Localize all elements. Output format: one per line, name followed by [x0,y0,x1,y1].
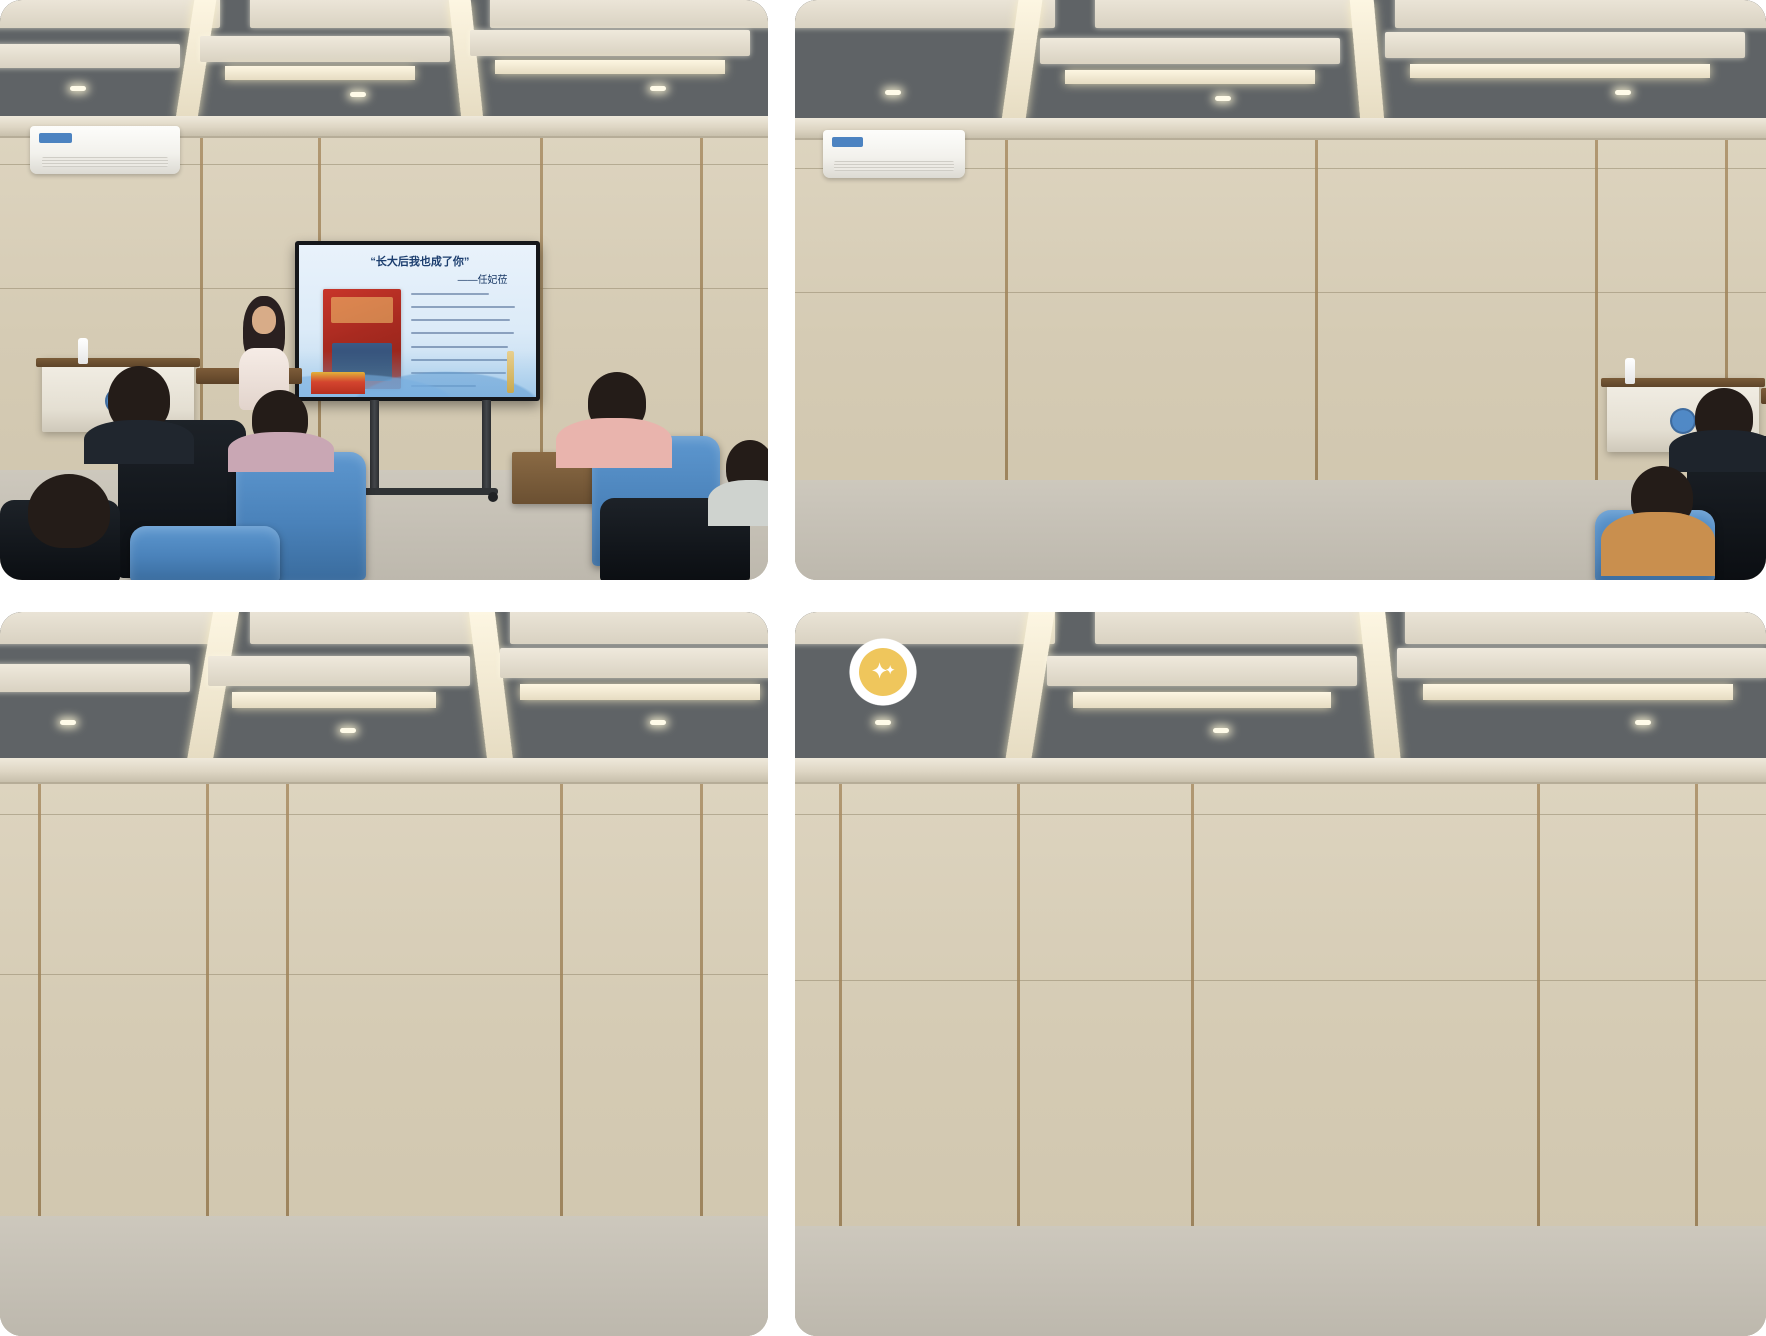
slide-title: “长大后我也成了你” [313,253,526,269]
ceiling [795,612,1766,762]
pillar-decor-icon [507,351,514,393]
lecture-hall-scene: “长大后我也成了你” ——任妃莅 [0,0,768,580]
photo-bottom-right[interactable]: 到祖国最需要的地方去开边花 ——传承和弘扬青年志愿者服务精神 [795,612,1766,1336]
display-screen[interactable]: “长大后我也成了你” ——任妃莅 [295,241,540,401]
lecture-hall-scene: 到祖国最需要的地方去开边花 ——传承和弘扬青年志愿者服务精神 [795,612,1766,1336]
cornice [0,758,768,784]
slide-subtitle: ——任妃莅 [458,271,508,286]
water-bottle [78,338,88,364]
photo-top-right[interactable]: “三尺讲台上的热烈讨论” ——黄忠霖红 [795,0,1766,580]
air-conditioner-icon [30,126,180,174]
air-conditioner-icon [823,130,965,178]
lecture-hall-scene: 做一名心怀梦想的 “幸福感” 的老师 ——潘时光 [0,612,768,1336]
lecture-hall-scene: “三尺讲台上的热烈讨论” ——黄忠霖红 [795,0,1766,580]
presentation-slide: “长大后我也成了你” ——任妃莅 [299,245,536,397]
floor [795,1226,1766,1336]
water-bottle [1625,358,1635,384]
ceiling [0,0,768,120]
ceiling [795,0,1766,122]
audience-head [28,474,110,548]
ceiling [0,612,768,762]
photo-top-left[interactable]: “长大后我也成了你” ——任妃莅 [0,0,768,580]
seat [130,526,280,580]
lectern-top [1761,388,1766,404]
floor [0,1216,768,1336]
photo-bottom-left[interactable]: 做一名心怀梦想的 “幸福感” 的老师 ——潘时光 [0,612,768,1336]
photo-collage: “长大后我也成了你” ——任妃莅 [0,0,1766,1336]
gate-decor-icon [311,372,365,394]
sparkles-icon[interactable] [859,648,907,696]
cornice [795,758,1766,784]
